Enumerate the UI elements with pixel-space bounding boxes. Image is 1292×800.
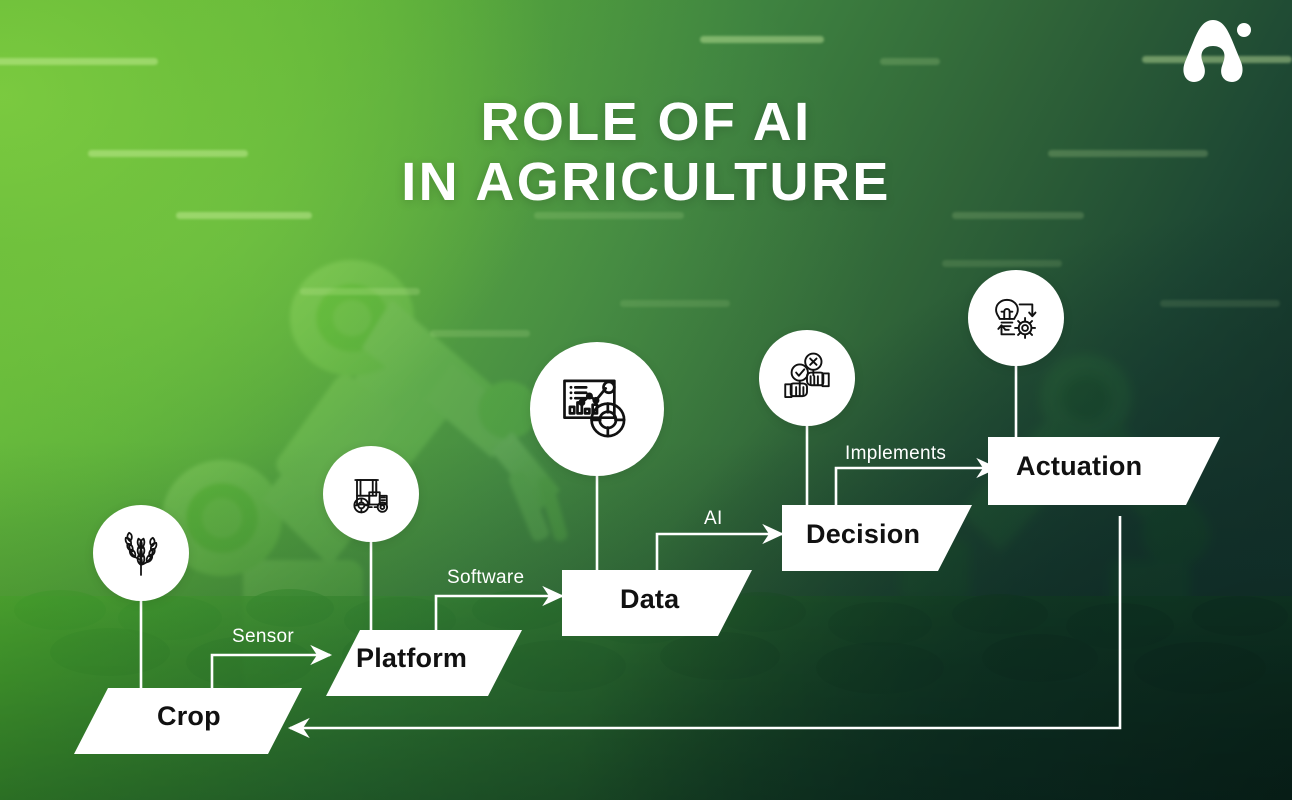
lightbulb-gear-icon [987,289,1045,347]
edge-data-to-decision [657,534,782,570]
edge-crop-to-platform [212,655,330,688]
node-label-platform[interactable]: Platform [356,643,467,674]
edge-label-software: Software [447,567,524,589]
edge-platform-to-data [436,596,562,630]
dashboard-analytics-icon [558,370,636,448]
infographic-canvas: ROLE OF AI IN AGRICULTURE C [0,0,1292,800]
node-icon-bubble-platform[interactable] [323,446,419,542]
tractor-icon [343,466,399,522]
node-icon-bubble-crop[interactable] [93,505,189,601]
node-icon-bubble-decision[interactable] [759,330,855,426]
edge-decision-to-actuation [836,468,996,505]
edge-label-sensor: Sensor [232,626,294,648]
node-label-crop[interactable]: Crop [157,701,221,732]
edge-label-implements: Implements [845,443,946,465]
node-icon-bubble-actuation[interactable] [968,270,1064,366]
node-icon-bubble-data[interactable] [530,342,664,476]
node-label-decision[interactable]: Decision [806,519,920,550]
hands-check-cross-icon [778,349,836,407]
node-label-actuation[interactable]: Actuation [1016,451,1142,482]
node-label-data[interactable]: Data [620,584,679,615]
wheat-stalks-icon [114,526,168,580]
edge-label-ai: AI [704,508,723,530]
